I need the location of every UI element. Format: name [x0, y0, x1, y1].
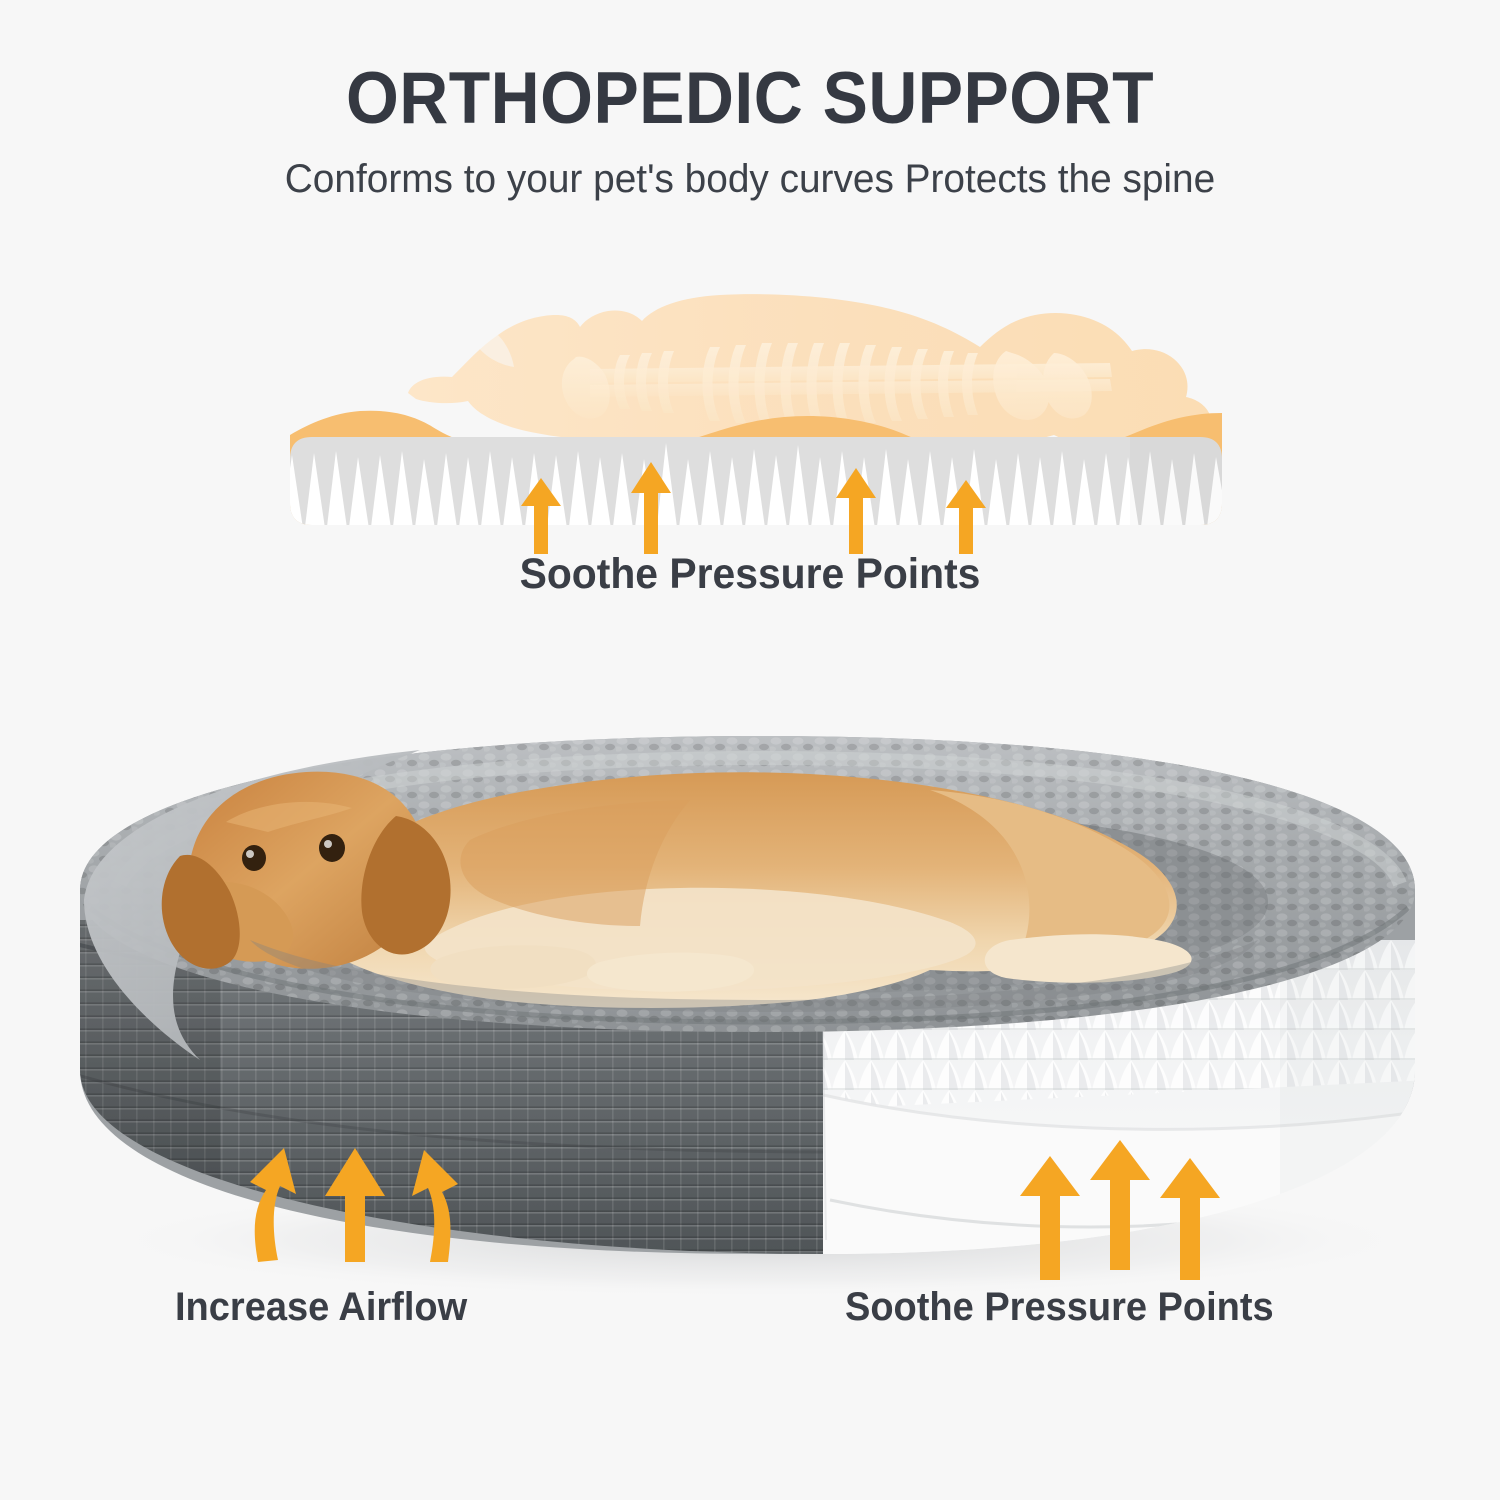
diagram-caption: Soothe Pressure Points — [38, 550, 1463, 599]
page-title: ORTHOPEDIC SUPPORT — [53, 62, 1448, 135]
bottom-label-row: Increase Airflow Soothe Pressure Points — [0, 1285, 1500, 1355]
dog-bed-svg — [0, 640, 1500, 1340]
header: ORTHOPEDIC SUPPORT Conforms to your pet'… — [0, 0, 1500, 202]
page-subtitle: Conforms to your pet's body curves Prote… — [23, 157, 1478, 202]
egg-crate-foam-block — [280, 437, 1230, 535]
product-illustration — [0, 640, 1500, 1340]
foam-cross-section-svg — [290, 285, 1222, 535]
dog-eye — [242, 845, 266, 871]
orthopedic-foam-diagram — [290, 285, 1222, 535]
label-increase-airflow: Increase Airflow — [175, 1285, 467, 1330]
dog-eye — [319, 834, 345, 862]
label-soothe-pressure-points: Soothe Pressure Points — [845, 1285, 1274, 1330]
